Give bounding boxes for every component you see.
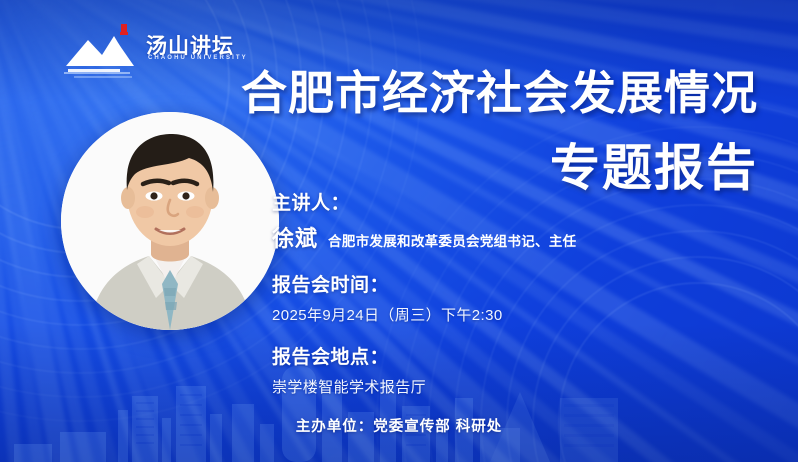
- logo-english-name: CHAOHU UNIVERSITY: [148, 55, 248, 61]
- speaker-name: 徐斌: [272, 221, 318, 253]
- spacer: [272, 325, 702, 342]
- speaker-label: 主讲人：: [272, 188, 702, 215]
- page-title-line1: 合肥市经济社会发展情况: [241, 57, 758, 123]
- time-label: 报告会时间：: [272, 270, 702, 297]
- spacer: [272, 253, 702, 270]
- poster-canvas: 汤山讲坛 CHAOHU UNIVERSITY 合肥市经济社会发展情况 专题报告: [0, 0, 798, 462]
- forum-logo: 汤山讲坛 CHAOHU UNIVERSITY: [62, 22, 242, 80]
- organizer-footer: 主办单位：党委宣传部 科研处: [0, 415, 798, 436]
- place-value: 崇学楼智能学术报告厅: [272, 376, 702, 397]
- speaker-position: 合肥市发展和改革委员会党组书记、主任: [328, 230, 576, 250]
- speaker-row: 徐斌 合肥市发展和改革委员会党组书记、主任: [272, 221, 702, 253]
- speaker-portrait: [61, 112, 279, 330]
- time-value: 2025年9月24日（周三）下午2:30: [272, 304, 702, 325]
- event-info-block: 主讲人： 徐斌 合肥市发展和改革委员会党组书记、主任 报告会时间： 2025年9…: [272, 188, 702, 397]
- background-ray: [0, 0, 42, 462]
- place-label: 报告会地点：: [272, 342, 702, 369]
